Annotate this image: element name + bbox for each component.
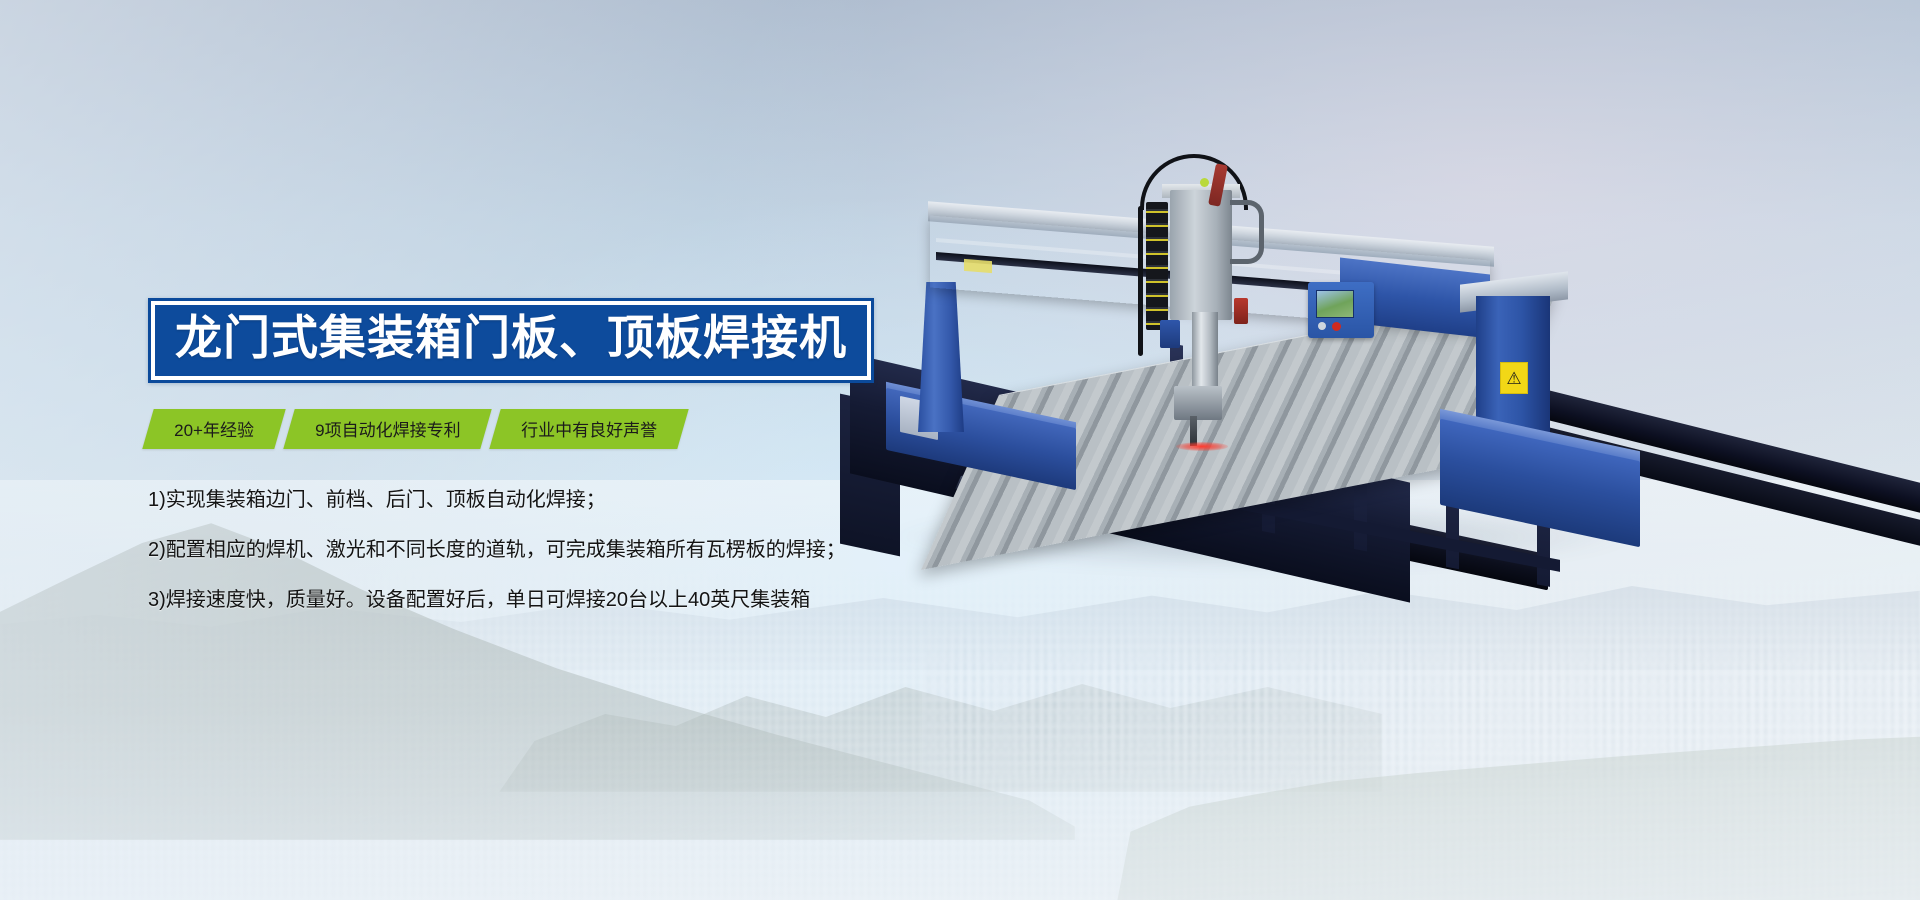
feature-badge-experience-label: 20+年经验 — [174, 416, 254, 441]
page-title: 龙门式集装箱门板、顶板焊接机 — [175, 314, 847, 363]
gantry-beam-sticker — [964, 259, 992, 273]
cable-energy-chain — [1146, 202, 1168, 330]
sensor-green-tip — [1200, 178, 1209, 187]
feature-badge-patents-label: 9项自动化焊接专利 — [315, 416, 460, 441]
welding-machine-image: ⚠ — [840, 150, 1920, 710]
feature-bullet-1: 1)实现集装箱边门、前档、后门、顶板自动化焊接； — [148, 485, 908, 515]
welding-head-carriage — [1170, 190, 1232, 320]
feature-bullet-3: 3)焊接速度快，质量好。设备配置好后，单日可焊接20台以上40英尺集装箱 — [148, 585, 908, 615]
servo-motor-blue — [1160, 320, 1180, 348]
feature-badge-patents: 9项自动化焊接专利 — [283, 409, 492, 449]
feature-bullet-list: 1)实现集装箱边门、前档、后门、顶板自动化焊接； 2)配置相应的焊机、激光和不同… — [148, 485, 908, 615]
hmi-touchscreen — [1316, 290, 1354, 318]
hmi-emergency-stop-button — [1332, 322, 1341, 331]
carriage-handle — [1230, 200, 1264, 264]
servo-motor-red — [1234, 298, 1248, 324]
torch-mount-bracket — [1174, 386, 1222, 420]
feature-badge-experience: 20+年经验 — [142, 409, 285, 449]
banner-text-content: 龙门式集装箱门板、顶板焊接机 20+年经验 9项自动化焊接专利 行业中有良好声誉… — [148, 298, 908, 615]
feature-bullet-2: 2)配置相应的焊机、激光和不同长度的道轨，可完成集装箱所有瓦楞板的焊接； — [148, 535, 908, 565]
banner-title-box: 龙门式集装箱门板、顶板焊接机 — [148, 298, 874, 383]
feature-badge-list: 20+年经验 9项自动化焊接专利 行业中有良好声誉 — [148, 409, 908, 449]
left-gantry-column — [918, 282, 964, 432]
welding-cable-drop — [1138, 206, 1143, 356]
feature-badge-reputation-label: 行业中有良好声誉 — [521, 416, 657, 441]
banner-title-inner: 龙门式集装箱门板、顶板焊接机 — [155, 305, 867, 376]
product-hero-banner: ⚠ 龙门式集装箱门板、顶板焊接机 20+年经验 — [0, 0, 1920, 900]
warning-triangle-icon: ⚠ — [1500, 362, 1528, 394]
hmi-button-grey — [1318, 322, 1326, 330]
laser-tracking-beam — [1176, 442, 1228, 451]
feature-badge-reputation: 行业中有良好声誉 — [490, 409, 689, 449]
